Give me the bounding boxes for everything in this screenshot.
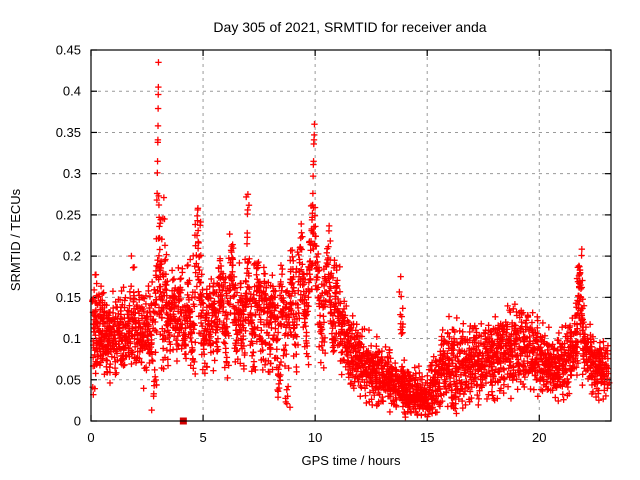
x-tick-label: 20 — [532, 430, 546, 445]
x-tick-label: 5 — [199, 430, 206, 445]
y-tick-label: 0.4 — [63, 84, 81, 99]
chart-background — [0, 0, 640, 480]
srmtid-scatter-plot: Day 305 of 2021, SRMTID for receiver and… — [0, 0, 640, 480]
y-tick-label: 0.35 — [56, 125, 81, 140]
chart-title: Day 305 of 2021, SRMTID for receiver and… — [213, 19, 486, 35]
x-tick-label: 10 — [308, 430, 322, 445]
x-axis-title: GPS time / hours — [302, 453, 401, 468]
chart-figure: Day 305 of 2021, SRMTID for receiver and… — [0, 0, 640, 480]
y-tick-label: 0.15 — [56, 290, 81, 305]
x-tick-label: 15 — [420, 430, 434, 445]
y-tick-label: 0.2 — [63, 249, 81, 264]
y-axis-title: SRMTID / TECUs — [8, 188, 23, 291]
y-tick-label: 0.1 — [63, 331, 81, 346]
x-tick-label: 0 — [87, 430, 94, 445]
y-tick-label: 0.25 — [56, 207, 81, 222]
y-tick-label: 0.45 — [56, 43, 81, 58]
y-tick-label: 0.05 — [56, 372, 81, 387]
y-tick-label: 0 — [74, 414, 81, 429]
y-tick-label: 0.3 — [63, 166, 81, 181]
